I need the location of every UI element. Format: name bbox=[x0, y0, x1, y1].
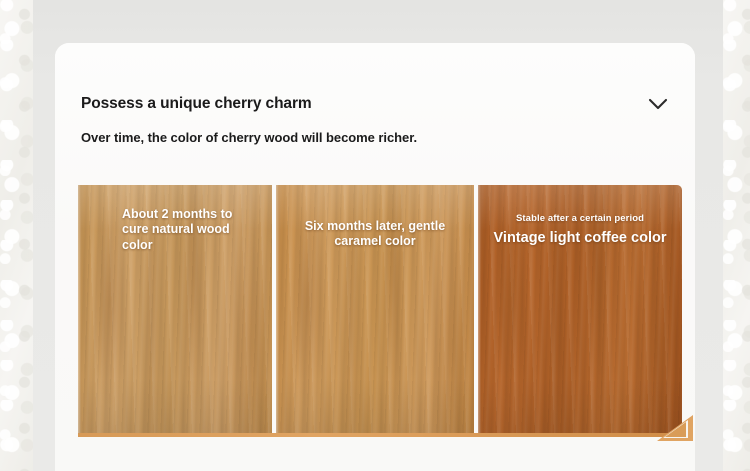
panel-caramel[interactable]: Six months later, gentle caramel color bbox=[276, 185, 474, 433]
wood-color-panels: About 2 months to cure natural wood colo… bbox=[78, 185, 682, 433]
corner-wedge-decoration bbox=[655, 411, 695, 443]
product-detail-card: Possess a unique cherry charm Over time,… bbox=[55, 43, 695, 471]
panel-caption: Vintage light coffee color bbox=[478, 230, 682, 247]
paper-texture-left bbox=[0, 0, 33, 471]
page-title: Possess a unique cherry charm bbox=[81, 95, 312, 113]
card-subtitle: Over time, the color of cherry wood will… bbox=[81, 130, 417, 145]
panel-natural-wood[interactable]: About 2 months to cure natural wood colo… bbox=[78, 185, 272, 433]
screenshot-root: Possess a unique cherry charm Over time,… bbox=[0, 0, 750, 471]
paper-texture-right bbox=[723, 0, 750, 471]
panel-coffee[interactable]: Stable after a certain period Vintage li… bbox=[478, 185, 682, 433]
panel-caption-small: Stable after a certain period bbox=[478, 213, 682, 224]
panel-base-strip bbox=[78, 433, 682, 437]
panel-caption: Six months later, gentle caramel color bbox=[276, 219, 474, 250]
chevron-down-glyph bbox=[648, 98, 668, 110]
panel-caption: About 2 months to cure natural wood colo… bbox=[78, 207, 272, 253]
chevron-down-icon[interactable] bbox=[645, 91, 671, 117]
card-header: Possess a unique cherry charm bbox=[81, 91, 671, 117]
